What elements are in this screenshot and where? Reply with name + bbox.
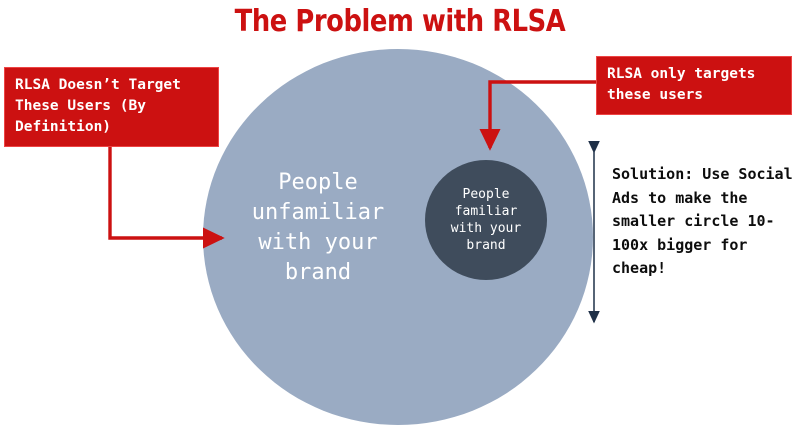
inner-circle-label: People familiar with your brand — [425, 186, 547, 254]
slide-canvas: The Problem with RLSA People unfamiliar … — [0, 0, 800, 430]
solution-text: Solution: Use Social Ads to make the sma… — [612, 163, 800, 281]
page-title: The Problem with RLSA — [56, 3, 744, 41]
outer-circle-label: People unfamiliar with your brand — [228, 168, 408, 288]
callout-right-rlsa-only-targets: RLSA only targets these users — [596, 56, 792, 115]
callout-left-rlsa-doesnt-target: RLSA Doesn’t Target These Users (By Defi… — [4, 67, 219, 147]
